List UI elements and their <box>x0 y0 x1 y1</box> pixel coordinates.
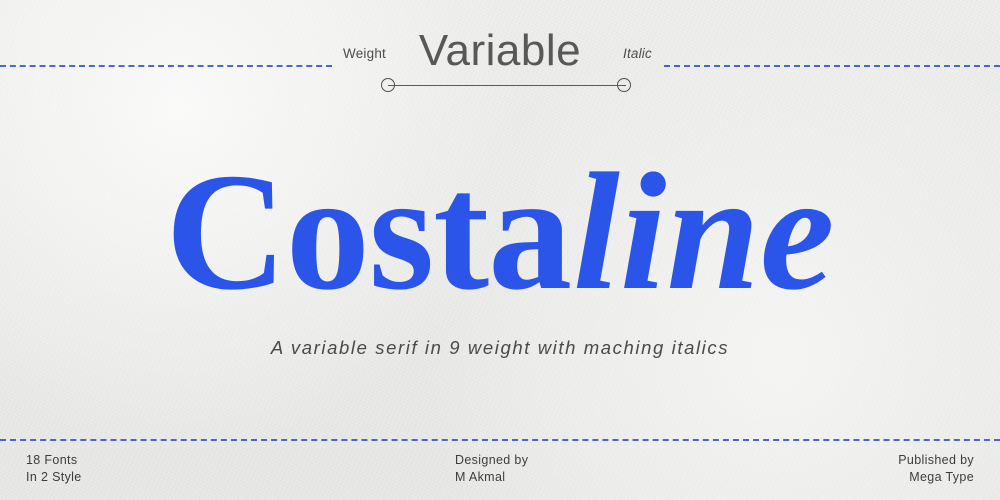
footer-font-count: 18 Fonts In 2 Style <box>26 452 82 486</box>
weight-axis-handle[interactable] <box>381 78 395 92</box>
font-specimen-poster: Variable Weight Italic Costaline A varia… <box>0 0 1000 500</box>
footer-font-count-line1: 18 Fonts <box>26 452 82 469</box>
footer-designer: Designed by M Akmal <box>455 452 528 486</box>
slider-track[interactable] <box>388 85 626 86</box>
wordmark-upright-part: Costa <box>165 139 571 325</box>
weight-axis-label: Weight <box>343 46 386 61</box>
footer: 18 Fonts In 2 Style Designed by M Akmal … <box>0 452 1000 492</box>
italic-axis-label: Italic <box>623 46 652 61</box>
variable-title: Variable <box>0 28 1000 74</box>
variable-axis-slider[interactable] <box>381 78 633 94</box>
typeface-tagline: A variable serif in 9 weight with machin… <box>0 337 1000 359</box>
footer-publisher-line1: Published by <box>898 452 974 469</box>
footer-designer-line2: M Akmal <box>455 469 528 486</box>
header-row: Variable Weight Italic <box>0 28 1000 74</box>
wordmark-italic-part: line <box>573 139 834 325</box>
footer-designer-line1: Designed by <box>455 452 528 469</box>
typeface-wordmark: Costaline <box>0 142 1000 322</box>
italic-axis-handle[interactable] <box>617 78 631 92</box>
footer-publisher-line2: Mega Type <box>898 469 974 486</box>
bottom-dashed-rule <box>0 439 1000 441</box>
footer-publisher: Published by Mega Type <box>898 452 974 486</box>
footer-font-count-line2: In 2 Style <box>26 469 82 486</box>
